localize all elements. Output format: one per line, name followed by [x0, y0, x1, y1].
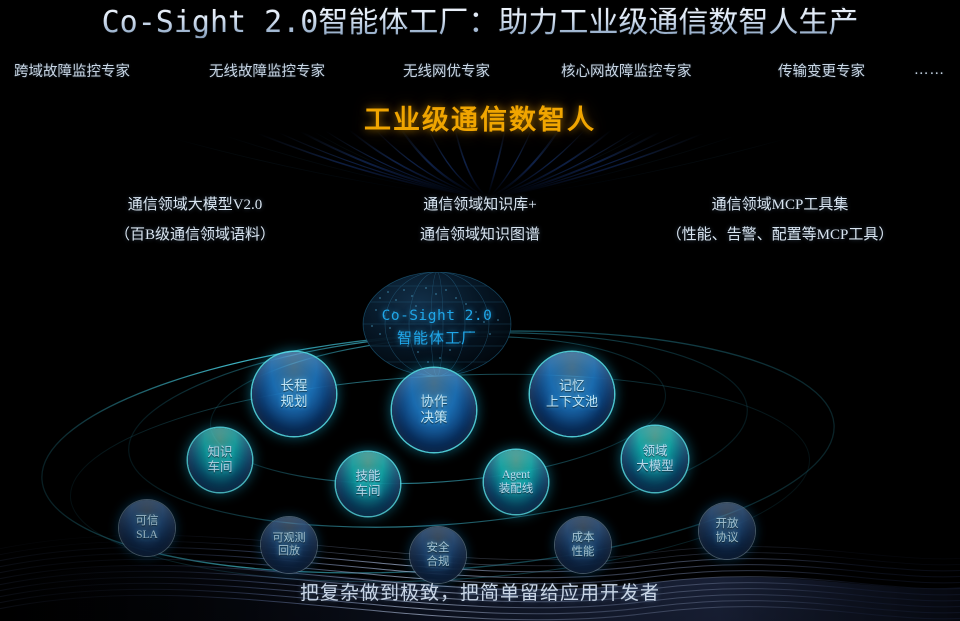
bubble-line1: 知识	[207, 445, 232, 460]
capability-line2: （性能、告警、配置等MCP工具）	[605, 220, 955, 250]
bubble-line2: 装配线	[499, 482, 534, 496]
page-title: Co-Sight 2.0智能体工厂：助力工业级通信数智人生产	[102, 8, 859, 38]
expert-label-transmission-change[interactable]: 传输变更专家	[778, 60, 865, 81]
expert-label-more-ellipsis: ……	[914, 62, 945, 79]
bubble-line2: 回放	[273, 545, 306, 558]
bubble-skill-workshop[interactable]: 技能 车间	[336, 452, 400, 516]
bubble-memory-context-pool[interactable]: 记忆 上下文池	[530, 352, 614, 436]
bubble-line2: 车间	[355, 484, 380, 499]
capability-line2: （百B级通信领域语料）	[40, 220, 350, 250]
central-globe: Co-Sight 2.0 智能体工厂	[350, 272, 524, 382]
bubble-line2: 性能	[572, 545, 595, 559]
bubble-line1: 开放	[716, 517, 739, 531]
bubble-line2: SLA	[136, 528, 159, 542]
bubble-observable-replay[interactable]: 可观测 回放	[261, 517, 317, 573]
bubble-cost-performance[interactable]: 成本 性能	[555, 517, 611, 573]
bubble-line1: 成本	[572, 531, 595, 545]
headline-industrial-comm-digital-human: 工业级通信数智人	[0, 98, 960, 137]
bubble-line2: 规划	[281, 394, 308, 410]
bubble-line1: 长程	[281, 378, 308, 394]
bubble-agent-assembly-line[interactable]: Agent 装配线	[484, 450, 548, 514]
bubble-long-horizon-planning[interactable]: 长程 规划	[252, 352, 336, 436]
bubble-knowledge-workshop[interactable]: 知识 车间	[188, 428, 252, 492]
bubble-line2: 大模型	[636, 459, 674, 474]
bubble-line1: 领域	[636, 444, 674, 459]
bubble-line1: 协作	[421, 394, 448, 410]
expert-label-core-network-fault[interactable]: 核心网故障监控专家	[561, 60, 692, 81]
bubble-line1: 记忆	[546, 378, 598, 394]
tagline: 把复杂做到极致，把简单留给应用开发者	[0, 578, 960, 605]
bubble-line1: Agent	[499, 468, 534, 482]
bubble-line1: 技能	[355, 469, 380, 484]
capability-line1: 通信领域知识库+	[330, 190, 630, 220]
title-band: Co-Sight 2.0智能体工厂：助力工业级通信数智人生产	[0, 0, 960, 46]
capability-column-mcp-toolset: 通信领域MCP工具集 （性能、告警、配置等MCP工具）	[605, 190, 955, 250]
expert-label-wireless-fault[interactable]: 无线故障监控专家	[209, 60, 325, 81]
bubble-line2: 上下文池	[546, 394, 598, 410]
bubble-line2: 协议	[716, 531, 739, 545]
bubble-collaborative-decision[interactable]: 协作 决策	[392, 368, 476, 452]
bubble-line1: 可观测	[273, 532, 306, 545]
expert-label-cross-domain-fault[interactable]: 跨域故障监控专家	[14, 60, 130, 81]
bubble-security-compliance[interactable]: 安全 合规	[410, 527, 466, 583]
bubble-domain-large-model[interactable]: 领域 大模型	[622, 426, 688, 492]
bubble-line2: 决策	[421, 410, 448, 426]
capability-line1: 通信领域大模型V2.0	[40, 190, 350, 220]
expert-agent-row: 跨域故障监控专家 无线故障监控专家 无线网优专家 核心网故障监控专家 传输变更专…	[0, 57, 960, 83]
bubble-line2: 合规	[427, 555, 450, 569]
expert-label-wireless-optimization[interactable]: 无线网优专家	[403, 60, 490, 81]
capability-line2: 通信领域知识图谱	[330, 220, 630, 250]
capability-line1: 通信领域MCP工具集	[605, 190, 955, 220]
bubble-trusted-sla[interactable]: 可信 SLA	[119, 500, 175, 556]
slide-canvas: Co-Sight 2.0智能体工厂：助力工业级通信数智人生产 跨域故障监控专家 …	[0, 0, 960, 621]
bubble-line1: 可信	[136, 514, 159, 528]
capability-column-knowledge-base: 通信领域知识库+ 通信领域知识图谱	[330, 190, 630, 250]
capability-column-large-model: 通信领域大模型V2.0 （百B级通信领域语料）	[40, 190, 350, 250]
bubble-line2: 车间	[207, 460, 232, 475]
bubble-line1: 安全	[427, 541, 450, 555]
globe-graphic	[350, 272, 524, 382]
bubble-open-protocol[interactable]: 开放 协议	[699, 503, 755, 559]
